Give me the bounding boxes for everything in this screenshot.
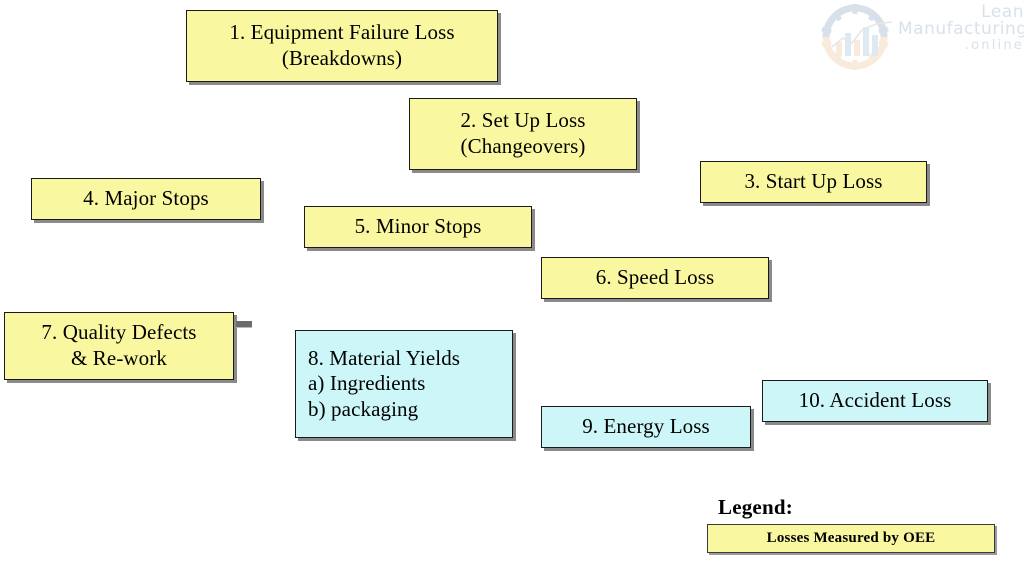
- loss-box-line: 6. Speed Loss: [596, 265, 715, 291]
- loss-box-line: 5. Minor Stops: [355, 214, 482, 240]
- loss-box-line: & Re-work: [71, 346, 167, 372]
- connector-stub-box7: [236, 321, 252, 327]
- box-minor-stops[interactable]: 5. Minor Stops: [304, 206, 532, 248]
- gear-icon: [812, 2, 898, 72]
- loss-box-line: 9. Energy Loss: [582, 414, 710, 440]
- legend-swatch-oee: Losses Measured by OEE: [707, 524, 995, 553]
- loss-box-line: 10. Accident Loss: [799, 388, 952, 414]
- box-energy-loss[interactable]: 9. Energy Loss: [541, 406, 751, 448]
- loss-box-line: b) packaging: [308, 397, 418, 423]
- box-accident-loss[interactable]: 10. Accident Loss: [762, 380, 988, 422]
- box-material-yields[interactable]: 8. Material Yieldsa) Ingredientsb) packa…: [295, 330, 513, 438]
- box-equipment-failure-loss[interactable]: 1. Equipment Failure Loss(Breakdowns): [186, 10, 498, 82]
- loss-box-line: (Breakdowns): [282, 46, 402, 72]
- loss-box-line: 2. Set Up Loss: [460, 108, 585, 134]
- loss-box-line: a) Ingredients: [308, 371, 425, 397]
- box-start-up-loss[interactable]: 3. Start Up Loss: [700, 161, 927, 203]
- box-set-up-loss[interactable]: 2. Set Up Loss(Changeovers): [409, 98, 637, 170]
- loss-box-line: 1. Equipment Failure Loss: [229, 20, 454, 46]
- box-quality-defects-and-rework[interactable]: 7. Quality Defects& Re-work: [4, 312, 234, 380]
- loss-box-line: 7. Quality Defects: [41, 320, 196, 346]
- legend-swatch-label: Losses Measured by OEE: [767, 530, 936, 547]
- box-speed-loss[interactable]: 6. Speed Loss: [541, 257, 769, 299]
- loss-box-line: 3. Start Up Loss: [744, 169, 882, 195]
- loss-box-line: (Changeovers): [461, 134, 586, 160]
- logo-line-2: Manufacturing: [898, 21, 1024, 38]
- box-major-stops[interactable]: 4. Major Stops: [31, 178, 261, 220]
- logo-line-3: .online: [898, 39, 1024, 52]
- lean-manufacturing-online-watermark: Lean Manufacturing .online: [812, 2, 1024, 72]
- slide-canvas: 1. Equipment Failure Loss(Breakdowns)2. …: [0, 0, 1024, 565]
- loss-box-line: 8. Material Yields: [308, 346, 460, 372]
- legend-title: Legend:: [718, 495, 793, 520]
- loss-box-line: 4. Major Stops: [83, 186, 209, 212]
